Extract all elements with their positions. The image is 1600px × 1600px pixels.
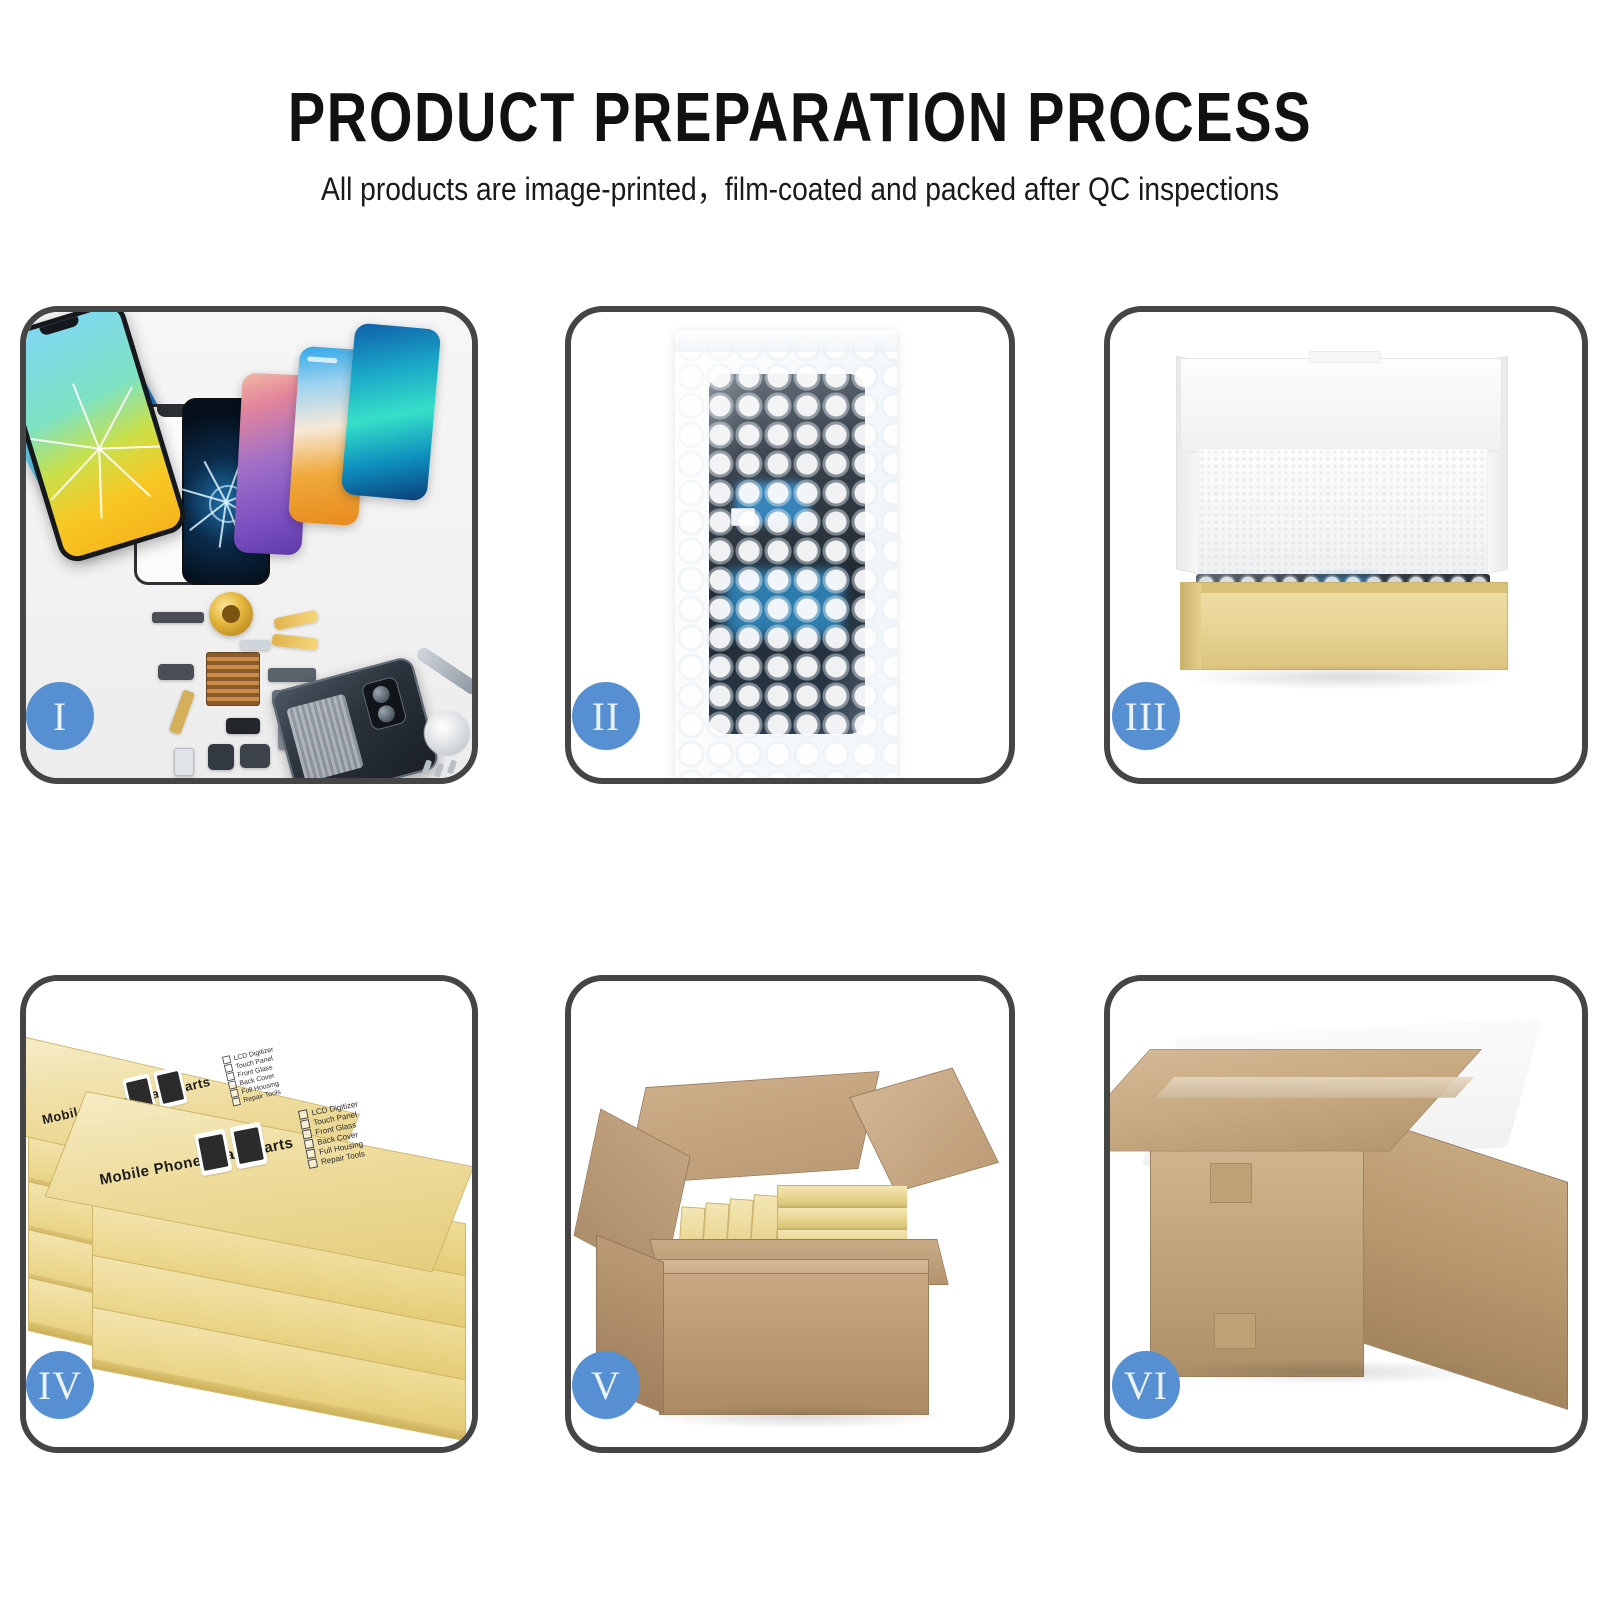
inner-box-scene <box>1110 312 1582 778</box>
checkbox-icon <box>304 1139 315 1150</box>
screw-part <box>422 759 432 774</box>
flex-cable-part <box>273 610 319 631</box>
checkbox-icon <box>300 1119 311 1130</box>
camera-lens-part <box>208 744 234 770</box>
wireless-charging-coil-part <box>209 592 253 636</box>
phone-thumbnail <box>194 1129 233 1177</box>
tape-tab-lower <box>1214 1313 1256 1349</box>
retail-box-in-carton <box>777 1207 907 1229</box>
step-badge-1: I <box>26 682 94 750</box>
ic-chip-part <box>206 652 260 706</box>
tape-tab-upper <box>1210 1163 1252 1203</box>
step-6-image <box>1110 981 1582 1447</box>
bubble-wrap-bag <box>675 330 897 778</box>
box-lip <box>1181 583 1507 593</box>
drop-shadow <box>647 1405 947 1429</box>
crack-line <box>99 387 134 450</box>
status-bar-shape <box>307 356 337 363</box>
speaker-module-part <box>152 612 204 623</box>
crack-line <box>30 438 100 450</box>
retail-box-in-carton <box>777 1185 907 1207</box>
flex-cable-part <box>271 634 318 651</box>
button-flex-part <box>268 668 316 682</box>
crack-line <box>51 448 100 501</box>
plastic-sheen <box>675 330 897 778</box>
small-component-part <box>240 640 270 650</box>
crack-line <box>99 449 103 519</box>
kraft-box-body <box>1180 582 1508 670</box>
crack-line <box>73 384 101 450</box>
thumbnail-screen <box>157 1071 185 1104</box>
connector-part <box>158 664 194 680</box>
crack-line <box>100 445 170 449</box>
retail-box-checklist-front: LCD Digitizer Touch Panel Front Glass Ba… <box>298 1100 368 1170</box>
taptic-engine-part <box>226 718 260 734</box>
sealed-carton-scene <box>1110 981 1582 1447</box>
drop-shadow <box>1180 664 1510 690</box>
camera-block-shape <box>361 676 408 732</box>
checkbox-icon <box>232 1097 241 1106</box>
thumbnail-screen <box>234 1127 264 1164</box>
process-step-grid: Mobile Phone Spare Parts LCD Digitizer T… <box>0 0 1600 1600</box>
step-badge-5: V <box>572 1351 640 1419</box>
drop-shadow <box>1162 1359 1492 1385</box>
screw-part <box>434 762 444 777</box>
box-edge <box>93 1359 465 1440</box>
battery-shape <box>286 694 364 778</box>
bag-seal-strip <box>675 330 897 352</box>
step-badge-6: VI <box>1112 1351 1180 1419</box>
step-badge-2: II <box>572 682 640 750</box>
checkbox-icon <box>308 1158 319 1169</box>
cleaning-brush-tool <box>424 710 470 756</box>
screws-group <box>424 760 468 774</box>
thumbnail-screen <box>198 1134 228 1171</box>
step-3-image <box>1110 312 1582 778</box>
camera-lens-part <box>240 744 270 768</box>
flex-cable-part <box>169 689 195 734</box>
checkbox-icon <box>306 1149 317 1160</box>
checkbox-icon <box>302 1129 313 1140</box>
repair-tweezers-tool <box>414 645 472 697</box>
notch-shape <box>39 316 80 336</box>
carton-body <box>659 1273 929 1415</box>
packing-tape-strip <box>1155 1077 1474 1098</box>
step-badge-3: III <box>1112 682 1180 750</box>
carton-front-face <box>1150 1149 1364 1377</box>
box-side-face <box>1181 583 1201 669</box>
crack-line <box>99 448 152 497</box>
step-badge-4: IV <box>26 1351 94 1419</box>
screw-part <box>447 759 457 774</box>
sim-tray-part <box>174 748 194 776</box>
box-lid-back <box>1180 358 1502 452</box>
phone-teal <box>341 323 442 502</box>
